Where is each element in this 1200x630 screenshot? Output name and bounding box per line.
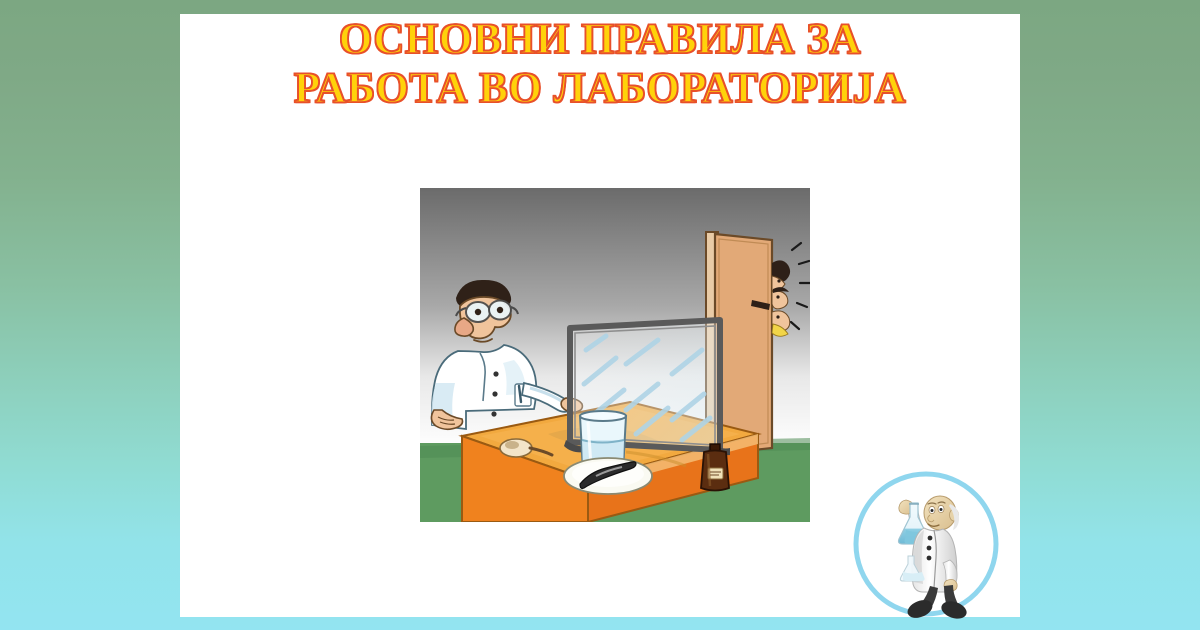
cartoon-reagent-bottle: [701, 444, 729, 491]
page-title: ОСНОВНИ ПРАВИЛА ЗА РАБОТА ВО ЛАБОРАТОРИЈ…: [180, 18, 1020, 111]
chemistry-mascot-badge: [850, 468, 1002, 620]
badge-scientist-figure: [899, 496, 969, 620]
title-line-2: РАБОТА ВО ЛАБОРАТОРИЈА: [180, 67, 1020, 111]
slide-root: ОСНОВНИ ПРАВИЛА ЗА РАБОТА ВО ЛАБОРАТОРИЈ…: [0, 0, 1200, 630]
title-line-1: ОСНОВНИ ПРАВИЛА ЗА: [180, 18, 1020, 62]
lab-safety-cartoon-image: [420, 188, 810, 522]
